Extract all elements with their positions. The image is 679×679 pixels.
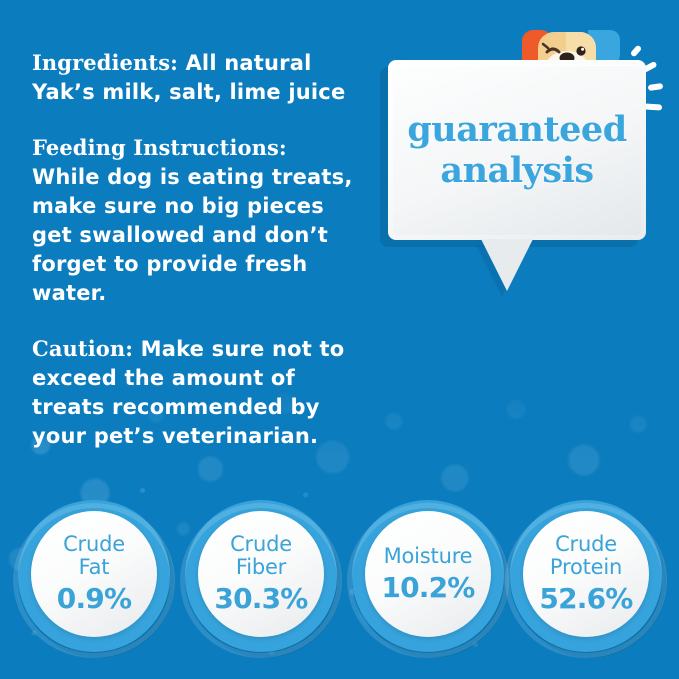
bubble-title-line-2: analysis [440,150,593,191]
circle-label-line-1: Crude [555,532,617,556]
circle-label: Crude Fat [63,533,125,579]
feeding-instructions-heading: Feeding Instructions: [32,135,287,160]
analysis-circle-moisture[interactable]: Moisture 10.2% [352,500,504,652]
feeding-instructions-paragraph: Feeding Instructions: While dog is eatin… [32,133,354,308]
bubble-tail [481,239,533,291]
circle-label-line-1: Crude [230,532,292,556]
circle-label: Crude Fiber [230,533,292,579]
circle-disc: Crude Fiber 30.3% [198,511,324,637]
caution-paragraph: Caution: Make sure not to exceed the amo… [32,334,354,451]
circle-value: 0.9% [57,583,131,615]
circle-label-line-2: Protein [550,555,622,579]
circle-value: 30.3% [214,583,307,615]
label-copy-block: Ingredients: All natural Yak’s milk, sal… [32,48,354,451]
circle-label-line-1: Moisture [384,544,473,568]
bubble-title-line-1: guaranteed [407,109,626,150]
circle-disc: Crude Fat 0.9% [31,511,157,637]
sparkle-dash-1 [630,45,642,58]
circle-label-line-1: Crude [63,532,125,556]
product-label-panel: Ingredients: All natural Yak’s milk, sal… [0,0,679,679]
circle-disc: Moisture 10.2% [365,511,491,637]
ingredients-paragraph: Ingredients: All natural Yak’s milk, sal… [32,48,354,107]
ingredients-heading: Ingredients: [32,50,178,75]
circle-value: 10.2% [381,572,474,604]
analysis-circle-crude-protein[interactable]: Crude Protein 52.6% [510,500,662,652]
circle-label: Crude Protein [550,533,622,579]
analysis-circle-crude-fiber[interactable]: Crude Fiber 30.3% [185,500,337,652]
caution-heading: Caution: [32,336,133,361]
analysis-circle-crude-fat[interactable]: Crude Fat 0.9% [18,500,170,652]
circle-label-line-2: Fat [79,555,110,579]
circle-label-line-2: Fiber [236,555,286,579]
guaranteed-analysis-bubble: guaranteed analysis [388,60,646,240]
circle-disc: Crude Protein 52.6% [523,511,649,637]
sparkle-dash-3 [648,83,664,91]
sparkle-dash-4 [644,103,662,110]
circle-label: Moisture [384,545,473,568]
circle-value: 52.6% [539,583,632,615]
feeding-instructions-body: While dog is eating treats, make sure no… [32,165,353,305]
bubble-inner-panel: guaranteed analysis [393,65,641,235]
bubble-body: guaranteed analysis [388,60,646,240]
analysis-circles-row: Crude Fat 0.9% Crude Fiber 30.3% Moistur… [0,500,679,660]
